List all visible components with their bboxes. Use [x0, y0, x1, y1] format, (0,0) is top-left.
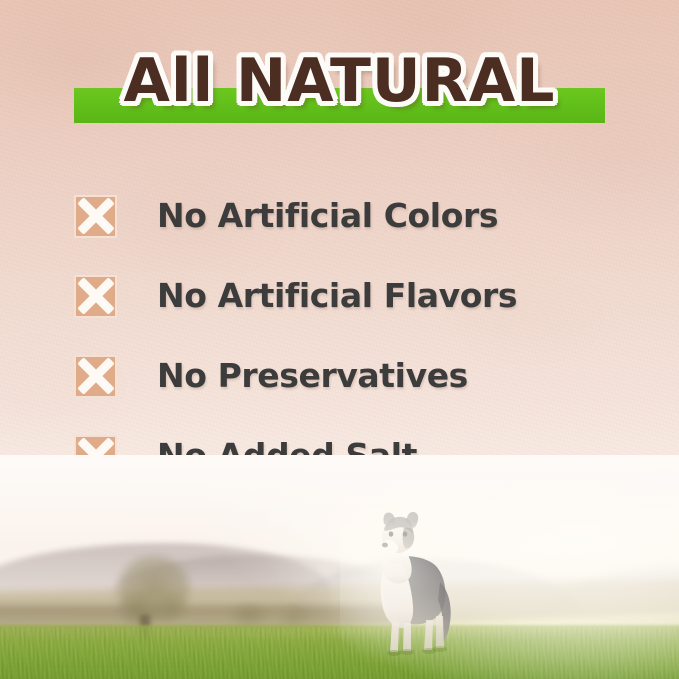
- list-item: No Artificial Colors: [74, 176, 614, 256]
- product-feature-card: All NATURAL No Artificial Colors No Arti…: [0, 0, 679, 679]
- x-mark-icon: [74, 355, 117, 398]
- claims-list: No Artificial Colors No Artificial Flavo…: [74, 176, 614, 496]
- list-item: No Artificial Flavors: [74, 256, 614, 336]
- claim-label: No Artificial Colors: [157, 197, 498, 235]
- claim-label: No Preservatives: [157, 357, 468, 395]
- headline-banner: All NATURAL: [0, 48, 679, 140]
- x-mark-icon: [74, 195, 117, 238]
- hero-photograph: [0, 455, 679, 679]
- x-mark-icon: [74, 275, 117, 318]
- grass-texture: [0, 627, 679, 679]
- list-item: No Preservatives: [74, 336, 614, 416]
- border-collie-dog: [352, 510, 460, 660]
- claim-label: No Artificial Flavors: [157, 277, 517, 315]
- page-title: All NATURAL: [0, 48, 679, 114]
